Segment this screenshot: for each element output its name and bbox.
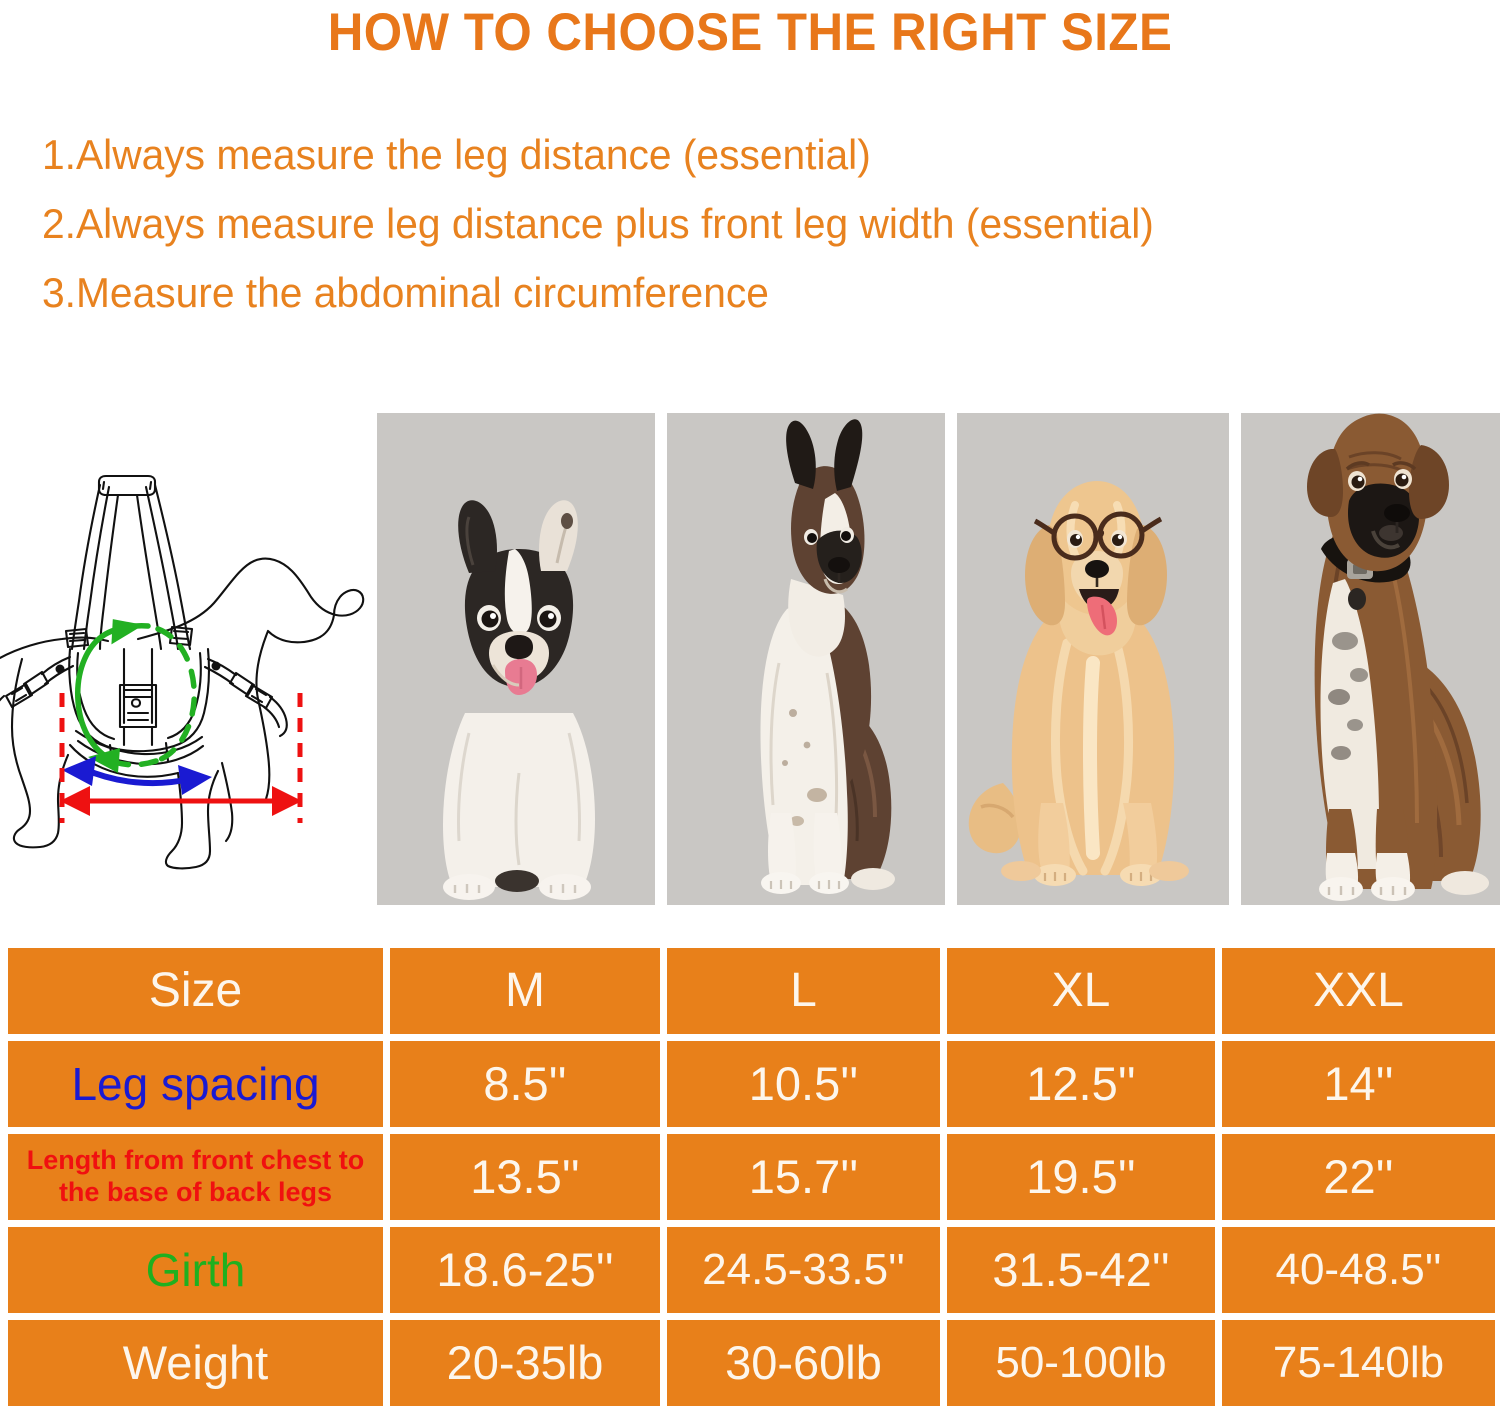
table-header-size: Size [8,948,383,1034]
row-label-weight: Weight [8,1320,383,1406]
row-label-leg-spacing: Leg spacing [8,1041,383,1127]
girth-value-m: 18.6-25'' [390,1227,660,1313]
row-label-girth: Girth [8,1227,383,1313]
table-row: Length from front chest to the base of b… [8,1134,1495,1220]
boxer-brindle-figure [1307,414,1489,901]
table-header-l: L [667,948,940,1034]
length-value-l: 15.7'' [667,1134,940,1220]
table-row: Weight 20-35lb 30-60lb 50-100lb 75-140lb [8,1320,1495,1406]
boxer-white-photo [667,413,945,905]
chest-to-back-legs-label-text: Length from front chest to the base of b… [27,1145,364,1209]
leg-spacing-value-m: 8.5'' [390,1041,660,1127]
harness-straps [0,476,287,764]
leg-spacing-value-l: 10.5'' [667,1041,940,1127]
table-header-xl: XL [947,948,1215,1034]
instruction-item-3: 3.Measure the abdominal circumference [42,258,1439,327]
weight-value-xxl: 75-140lb [1222,1320,1495,1406]
dog-size-photo-strip [377,413,1500,905]
leg-spacing-label-text: Leg spacing [71,1060,319,1108]
french-bulldog-figure [443,500,595,900]
label-line-1: Length from front chest to [27,1145,364,1175]
girth-label-text: Girth [146,1246,246,1294]
table-row: Girth 18.6-25'' 24.5-33.5'' 31.5-42'' 40… [8,1227,1495,1313]
weight-value-l: 30-60lb [667,1320,940,1406]
length-arrowhead-left [60,786,90,816]
weight-value-m: 20-35lb [390,1320,660,1406]
leg-spacing-arrowhead-left [62,756,96,786]
girth-value-xl: 31.5-42'' [947,1227,1215,1313]
table-header-m: M [390,948,660,1034]
golden-retriever-figure [969,481,1189,886]
girth-value-l: 24.5-33.5'' [667,1227,940,1313]
instructions-list: 1.Always measure the leg distance (essen… [42,120,1482,327]
instruction-item-1: 1.Always measure the leg distance (essen… [42,120,1439,189]
girth-arrowhead-top [109,616,145,644]
harness-measurement-diagram [0,445,372,915]
row-label-chest-to-back-legs: Length from front chest to the base of b… [8,1134,383,1220]
leg-spacing-arrowhead-right [178,765,212,795]
table-header-xxl: XXL [1222,948,1495,1034]
instruction-item-2: 2.Always measure leg distance plus front… [42,189,1439,258]
table-header-row: Size M L XL XXL [8,948,1495,1034]
length-value-xl: 19.5'' [947,1134,1215,1220]
label-line-2: the base of back legs [59,1177,332,1207]
length-value-m: 13.5'' [390,1134,660,1220]
girth-value-xxl: 40-48.5'' [1222,1227,1495,1313]
leg-spacing-value-xl: 12.5'' [947,1041,1215,1127]
leg-spacing-value-xxl: 14'' [1222,1041,1495,1127]
boxer-white-figure [760,419,895,894]
table-row: Leg spacing 8.5'' 10.5'' 12.5'' 14'' [8,1041,1495,1127]
length-arrowhead-right [272,786,302,816]
golden-retriever-photo [957,413,1229,905]
boxer-brindle-photo [1241,413,1500,905]
french-bulldog-photo [377,413,655,905]
page-title: HOW TO CHOOSE THE RIGHT SIZE [53,2,1448,63]
weight-value-xl: 50-100lb [947,1320,1215,1406]
length-value-xxl: 22'' [1222,1134,1495,1220]
size-chart-table: Size M L XL XXL Leg spacing 8.5'' 10.5''… [8,948,1495,1406]
